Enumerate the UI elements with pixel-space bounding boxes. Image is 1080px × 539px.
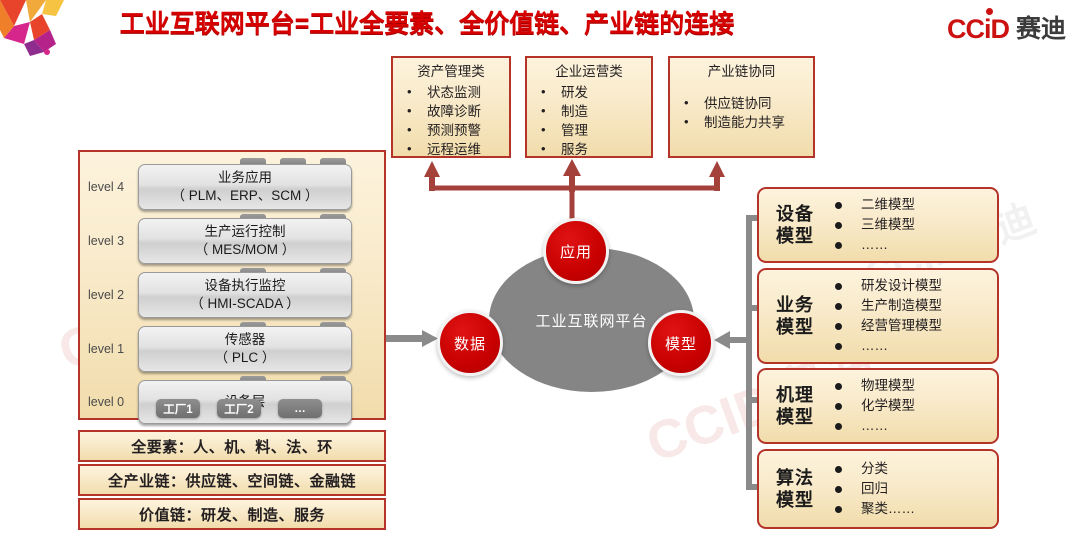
topbox-list: 状态监测 故障诊断 预测预警 远程运维 — [401, 83, 501, 159]
strip-text: 全产业链：供应链、空间链、金融链 — [108, 470, 356, 491]
list-item: 研发设计模型 — [825, 276, 991, 296]
modelbox-algorithm-model[interactable]: 算法 模型 分类 回归 聚类…… — [757, 449, 999, 529]
list-item: 分类 — [825, 459, 991, 479]
logo-ccid: CCiD — [947, 16, 1009, 43]
list-item: 制造 — [535, 102, 643, 121]
list-item: 物理模型 — [825, 376, 991, 396]
modelbox-title: 设备 模型 — [765, 203, 825, 247]
list-item: 生产制造模型 — [825, 296, 991, 316]
level-plate-line2: （ PLC ） — [139, 349, 351, 367]
level-plate-line1: 设备执行监控 — [139, 277, 351, 295]
strip-all-elements: 全要素：人、机、料、法、环 — [78, 430, 386, 462]
list-item: 回归 — [825, 479, 991, 499]
level-label: level 4 — [80, 180, 138, 194]
list-item: 三维模型 — [825, 215, 991, 235]
modelbox-title-line2: 模型 — [765, 225, 825, 247]
list-item: …… — [825, 235, 991, 255]
level-plate-4[interactable]: 业务应用 （ PLM、ERP、SCM ） — [138, 164, 352, 210]
modelbox-title-line1: 设备 — [765, 203, 825, 225]
topbox-list: 供应链协同 制造能力共享 — [678, 94, 805, 132]
list-item: 经营管理模型 — [825, 316, 991, 336]
strip-text: 价值链：研发、制造、服务 — [139, 504, 325, 525]
list-item: 故障诊断 — [401, 102, 501, 121]
level-plate-1[interactable]: 传感器 （ PLC ） — [138, 326, 352, 372]
modelbox-title-line1: 业务 — [765, 294, 825, 316]
level-label: level 0 — [80, 395, 138, 409]
modelbox-items: 物理模型 化学模型 …… — [825, 376, 991, 436]
factory-tab-2[interactable]: 工厂2 — [217, 399, 261, 418]
level-row[interactable]: level 1 传感器 （ PLC ） — [80, 326, 352, 372]
level-plate-line1: 传感器 — [139, 331, 351, 349]
list-item: 状态监测 — [401, 83, 501, 102]
modelbox-items: 研发设计模型 生产制造模型 经营管理模型 …… — [825, 276, 991, 356]
factory-level-panel: level 4 业务应用 （ PLM、ERP、SCM ） level 3 生产运… — [78, 150, 386, 420]
list-item: 远程运维 — [401, 140, 501, 159]
level-row[interactable]: level 2 设备执行监控 （ HMI-SCADA ） — [80, 272, 352, 318]
list-item: 化学模型 — [825, 396, 991, 416]
panel-to-data-arrow — [386, 330, 442, 352]
topbox-title: 企业运营类 — [535, 63, 643, 80]
topbox-list: 研发 制造 管理 服务 — [535, 83, 643, 159]
modelbox-items: 二维模型 三维模型 …… — [825, 195, 991, 255]
brand-logo: CCiD 赛迪 — [947, 14, 1066, 44]
list-item: 预测预警 — [401, 121, 501, 140]
list-item: …… — [825, 336, 991, 356]
list-item: 服务 — [535, 140, 643, 159]
topbox-enterprise-operation[interactable]: 企业运营类 研发 制造 管理 服务 — [525, 56, 653, 158]
brand-polygon-decoration — [0, 0, 64, 58]
modelbox-mechanism-model[interactable]: 机理 模型 物理模型 化学模型 …… — [757, 368, 999, 444]
level-row[interactable]: level 4 业务应用 （ PLM、ERP、SCM ） — [80, 164, 352, 210]
strip-text: 全要素：人、机、料、法、环 — [131, 436, 333, 457]
topbox-industry-chain[interactable]: 产业链协同 供应链协同 制造能力共享 — [668, 56, 815, 158]
modelbox-business-model[interactable]: 业务 模型 研发设计模型 生产制造模型 经营管理模型 …… — [757, 268, 999, 364]
list-item: 二维模型 — [825, 195, 991, 215]
level-plate-line1: 业务应用 — [139, 169, 351, 187]
level-plate-line2: （ MES/MOM ） — [139, 241, 351, 259]
modelbox-title-line2: 模型 — [765, 316, 825, 338]
list-item: 研发 — [535, 83, 643, 102]
level-plate-line1: 生产运行控制 — [139, 223, 351, 241]
modelbox-title-line2: 模型 — [765, 489, 825, 511]
factory-tab-1[interactable]: 工厂1 — [156, 399, 200, 418]
logo-ccid-cn: 赛迪 — [1016, 17, 1066, 42]
modelbox-title: 机理 模型 — [765, 384, 825, 428]
bubble-application[interactable]: 应用 — [543, 218, 609, 284]
level-plate-2[interactable]: 设备执行监控 （ HMI-SCADA ） — [138, 272, 352, 318]
list-item: 聚类…… — [825, 499, 991, 519]
topbox-title: 资产管理类 — [401, 63, 501, 80]
factory-tab-more[interactable]: … — [278, 399, 322, 418]
list-item: 供应链协同 — [678, 94, 805, 113]
modelbox-title: 业务 模型 — [765, 294, 825, 338]
strip-value-chain: 价值链：研发、制造、服务 — [78, 498, 386, 530]
topbox-title: 产业链协同 — [678, 63, 805, 80]
level-label: level 1 — [80, 342, 138, 356]
strip-industry-chain: 全产业链：供应链、空间链、金融链 — [78, 464, 386, 496]
modelbox-title-line2: 模型 — [765, 406, 825, 428]
bubble-model[interactable]: 模型 — [648, 310, 714, 376]
list-item: 制造能力共享 — [678, 113, 805, 132]
modelbox-title-line1: 算法 — [765, 467, 825, 489]
modelbox-items: 分类 回归 聚类…… — [825, 459, 991, 519]
topbox-asset-management[interactable]: 资产管理类 状态监测 故障诊断 预测预警 远程运维 — [391, 56, 511, 158]
modelbox-title-line1: 机理 — [765, 384, 825, 406]
level-plate-3[interactable]: 生产运行控制 （ MES/MOM ） — [138, 218, 352, 264]
list-item: …… — [825, 416, 991, 436]
modelbox-equipment-model[interactable]: 设备 模型 二维模型 三维模型 …… — [757, 187, 999, 263]
level-label: level 3 — [80, 234, 138, 248]
level-label: level 2 — [80, 288, 138, 302]
page-title: 工业互联网平台=工业全要素、全价值链、产业链的连接 — [82, 6, 772, 42]
bubble-data[interactable]: 数据 — [437, 310, 503, 376]
level-row[interactable]: level 3 生产运行控制 （ MES/MOM ） — [80, 218, 352, 264]
list-item: 管理 — [535, 121, 643, 140]
level-plate-line2: （ PLM、ERP、SCM ） — [139, 187, 351, 205]
level-plate-line2: （ HMI-SCADA ） — [139, 295, 351, 313]
modelbox-title: 算法 模型 — [765, 467, 825, 511]
